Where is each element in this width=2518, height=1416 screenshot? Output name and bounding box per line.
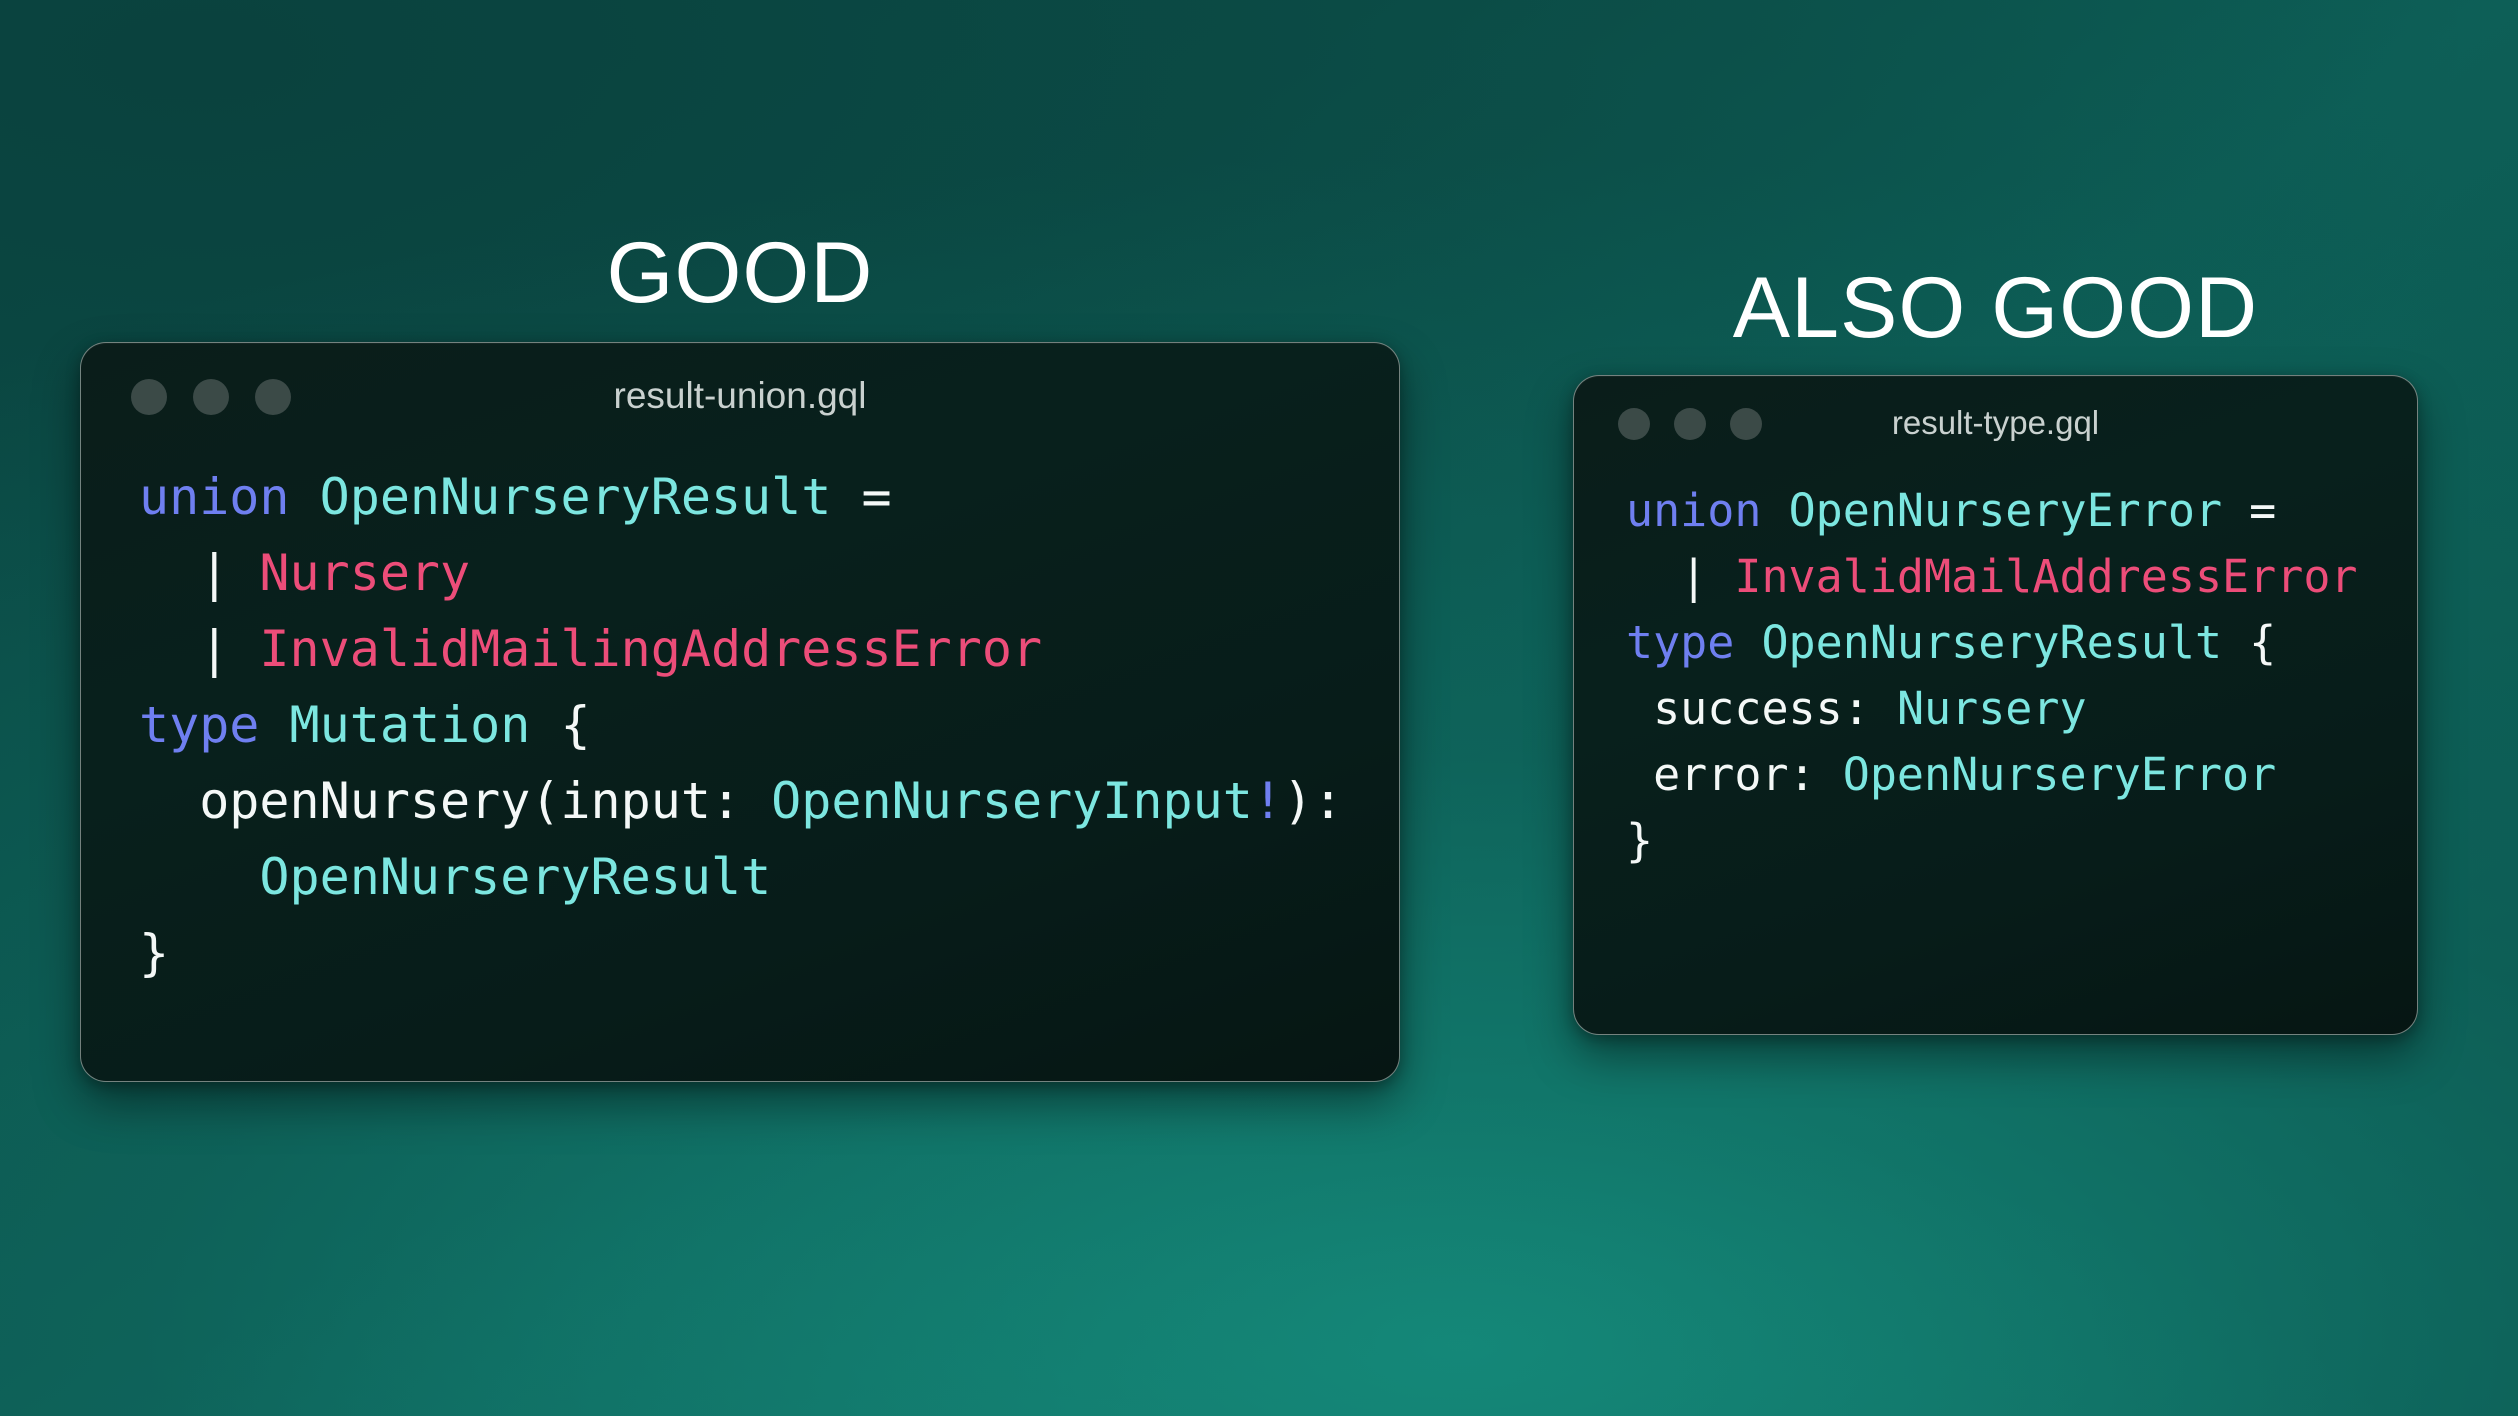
code-window-good: result-union.gql union OpenNurseryResult…	[80, 342, 1400, 1082]
code-token: openNursery(input:	[139, 772, 771, 830]
code-token: type	[139, 696, 259, 754]
panel-good-title: GOOD	[80, 230, 1400, 316]
window-controls-also-good	[1618, 408, 1786, 440]
code-token: =	[831, 468, 891, 526]
code-token: OpenNurseryResult	[320, 468, 832, 526]
code-token: union	[139, 468, 290, 526]
code-line: | InvalidMailAddressError	[1626, 544, 2417, 610]
code-window-titlebar-also-good: result-type.gql	[1574, 376, 2417, 472]
panel-also-good-title: ALSO GOOD	[1573, 265, 2418, 351]
code-token: Nursery	[259, 544, 470, 602]
code-token: }	[139, 924, 169, 982]
code-window-titlebar-good: result-union.gql	[81, 343, 1399, 451]
code-token: InvalidMailAddressError	[1734, 550, 2357, 603]
code-token	[139, 848, 259, 906]
code-token	[1734, 616, 1761, 669]
panel-also-good: ALSO GOOD result-type.gql union OpenNurs…	[1573, 265, 2418, 1035]
code-line: openNursery(input: OpenNurseryInput!):	[139, 763, 1399, 839]
code-token: OpenNurseryResult	[259, 848, 771, 906]
code-token: InvalidMailingAddressError	[259, 620, 1042, 678]
code-token: type	[1626, 616, 1734, 669]
code-token	[259, 696, 289, 754]
code-token	[290, 468, 320, 526]
window-dot-close-icon[interactable]	[131, 379, 167, 415]
code-token: !	[1253, 772, 1283, 830]
code-token: OpenNurseryResult	[1761, 616, 2222, 669]
window-dot-minimize-icon[interactable]	[193, 379, 229, 415]
code-token: success:	[1626, 682, 1897, 735]
slide-canvas: GOOD result-union.gql union OpenNurseryR…	[0, 0, 2518, 1416]
panel-good: GOOD result-union.gql union OpenNurseryR…	[80, 230, 1400, 1082]
code-token: error:	[1626, 748, 1843, 801]
code-token: OpenNurseryError	[1843, 748, 2276, 801]
code-line: | Nursery	[139, 535, 1399, 611]
code-token: union	[1626, 484, 1761, 537]
code-token: }	[1626, 814, 1653, 867]
code-token: Nursery	[1897, 682, 2087, 735]
code-line: }	[139, 915, 1399, 991]
code-token: {	[2222, 616, 2276, 669]
window-dot-close-icon[interactable]	[1618, 408, 1650, 440]
window-dot-maximize-icon[interactable]	[255, 379, 291, 415]
code-line: error: OpenNurseryError	[1626, 742, 2417, 808]
code-token: OpenNurseryInput	[771, 772, 1253, 830]
code-window-also-good: result-type.gql union OpenNurseryError =…	[1573, 375, 2418, 1035]
code-token: |	[139, 544, 259, 602]
window-dot-maximize-icon[interactable]	[1730, 408, 1762, 440]
code-line: union OpenNurseryResult =	[139, 459, 1399, 535]
code-block-good: union OpenNurseryResult = | Nursery | In…	[81, 451, 1399, 991]
code-token: Mutation	[290, 696, 531, 754]
code-line: | InvalidMailingAddressError	[139, 611, 1399, 687]
code-token: |	[139, 620, 259, 678]
code-token: OpenNurseryError	[1789, 484, 2222, 537]
code-token	[1761, 484, 1788, 537]
code-line: union OpenNurseryError =	[1626, 478, 2417, 544]
code-block-also-good: union OpenNurseryError = | InvalidMailAd…	[1574, 472, 2417, 874]
code-line: type OpenNurseryResult {	[1626, 610, 2417, 676]
code-token: =	[2222, 484, 2276, 537]
code-line: }	[1626, 808, 2417, 874]
window-dot-minimize-icon[interactable]	[1674, 408, 1706, 440]
code-token: {	[530, 696, 590, 754]
code-line: type Mutation {	[139, 687, 1399, 763]
window-controls-good	[131, 379, 317, 415]
code-token: |	[1626, 550, 1734, 603]
code-token: ):	[1283, 772, 1343, 830]
code-line: OpenNurseryResult	[139, 839, 1399, 915]
code-line: success: Nursery	[1626, 676, 2417, 742]
